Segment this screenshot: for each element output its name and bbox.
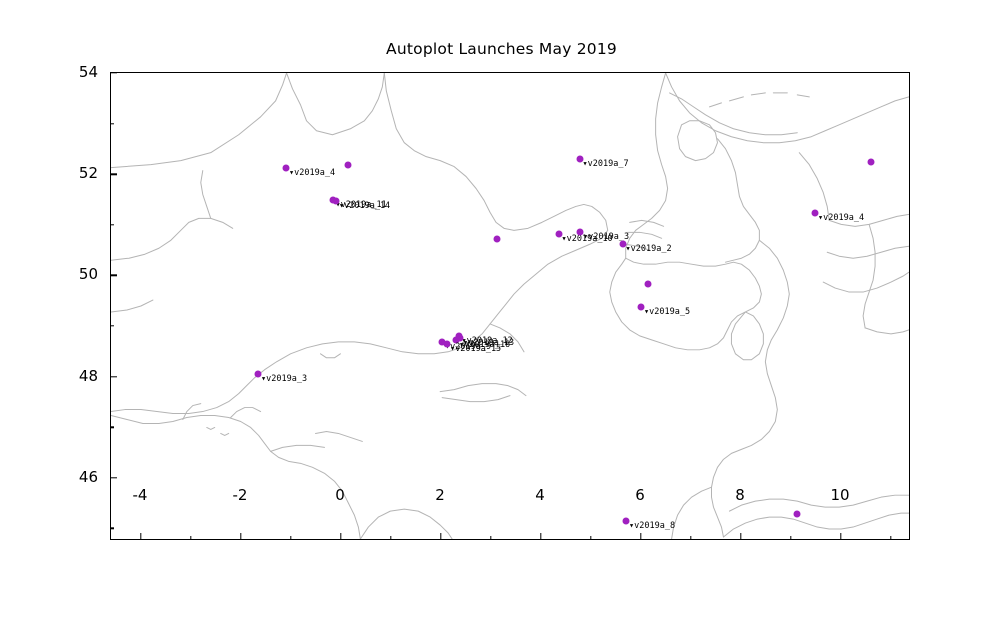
x-axis-tick-label: 6 xyxy=(635,486,645,504)
x-axis-tick-label: 8 xyxy=(735,486,745,504)
y-axis-minor-tick xyxy=(110,528,114,529)
y-axis-tick-label: 52 xyxy=(79,164,98,182)
x-axis-minor-tick xyxy=(890,536,891,540)
y-axis-minor-tick xyxy=(110,426,114,427)
y-axis-tick xyxy=(110,477,117,478)
x-axis-tick xyxy=(640,533,641,540)
scatter-point-label: ▾v2019a_4 xyxy=(818,213,864,222)
scatter-point xyxy=(794,511,801,518)
scatter-point-label: ▾v2019a_5 xyxy=(644,307,690,316)
x-axis-tick-label: -2 xyxy=(233,486,248,504)
x-axis-minor-tick xyxy=(390,536,391,540)
x-axis-tick xyxy=(140,533,141,540)
x-axis-tick xyxy=(840,533,841,540)
x-axis-tick xyxy=(440,533,441,540)
x-axis-tick-label: 4 xyxy=(535,486,545,504)
x-axis-tick xyxy=(340,533,341,540)
x-axis-tick-label: 0 xyxy=(335,486,345,504)
x-axis-minor-tick xyxy=(190,536,191,540)
scatter-point xyxy=(494,235,501,242)
figure-canvas: Autoplot Launches May 2019 xyxy=(0,0,1003,633)
y-axis-tick xyxy=(110,173,117,174)
y-axis-tick xyxy=(110,376,117,377)
y-axis-tick-label: 50 xyxy=(79,265,98,283)
x-axis-tick-label: 2 xyxy=(435,486,445,504)
y-axis-tick xyxy=(110,275,117,276)
x-axis-minor-tick xyxy=(790,536,791,540)
x-axis-tick-label: 10 xyxy=(830,486,849,504)
y-axis-tick xyxy=(110,72,117,73)
x-axis-tick xyxy=(740,533,741,540)
scatter-point-label: ▾v2019a_7 xyxy=(583,160,629,169)
x-axis-minor-tick xyxy=(290,536,291,540)
y-axis-tick-label: 46 xyxy=(79,468,98,486)
scatter-point xyxy=(644,281,651,288)
scatter-point xyxy=(868,158,875,165)
x-axis-minor-tick xyxy=(690,536,691,540)
x-axis-tick xyxy=(240,533,241,540)
plot-axes: ▾v2019a_4▾v2019a_11▾v2019a_14▾v2019a_7▾v… xyxy=(110,72,910,540)
scatter-point-layer: ▾v2019a_4▾v2019a_11▾v2019a_14▾v2019a_7▾v… xyxy=(111,73,909,539)
scatter-point-label: ▾v2019a_14 xyxy=(339,202,390,211)
scatter-point-label: ▾v2019a_3 xyxy=(261,374,307,383)
x-axis-minor-tick xyxy=(490,536,491,540)
y-axis-minor-tick xyxy=(110,123,114,124)
scatter-point xyxy=(344,162,351,169)
scatter-point-label: ▾v2019a_15 xyxy=(450,344,501,353)
x-axis-tick xyxy=(540,533,541,540)
x-axis-minor-tick xyxy=(590,536,591,540)
y-axis-minor-tick xyxy=(110,325,114,326)
scatter-point-label: ▾v2019a_2 xyxy=(626,244,672,253)
x-axis-tick-label: -4 xyxy=(133,486,148,504)
scatter-point-label: ▾v2019a_8 xyxy=(629,522,675,531)
y-axis-minor-tick xyxy=(110,224,114,225)
chart-title: Autoplot Launches May 2019 xyxy=(0,40,1003,58)
y-axis-tick-label: 54 xyxy=(79,63,98,81)
y-axis-tick-label: 48 xyxy=(79,367,98,385)
scatter-point-label: ▾v2019a_4 xyxy=(289,169,335,178)
